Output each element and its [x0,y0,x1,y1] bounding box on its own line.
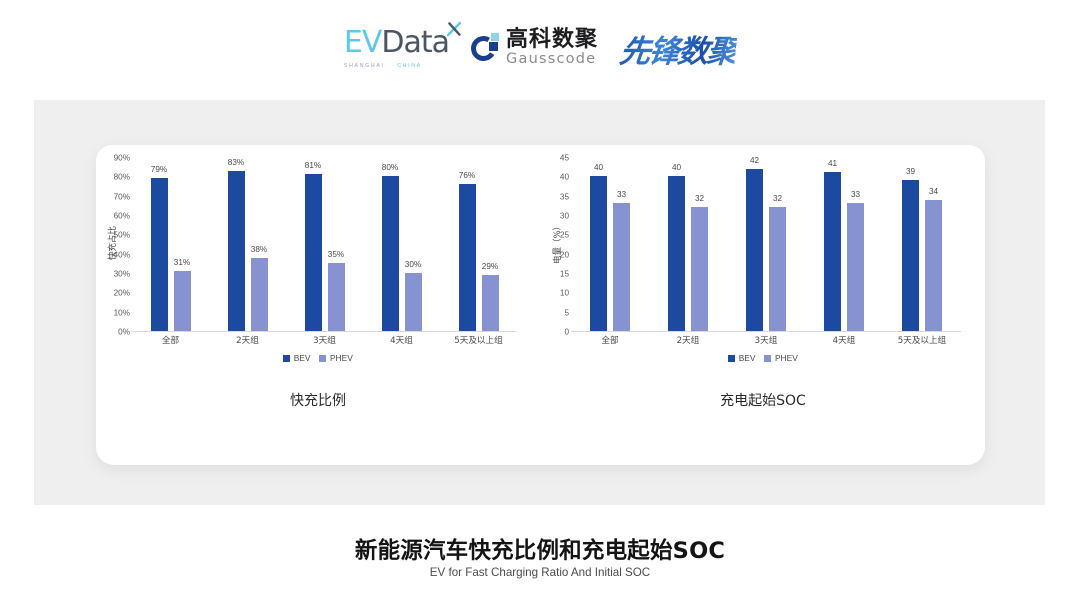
evdata-tagline-city: SHANGHAI [344,63,385,69]
bar-bev[interactable]: 81% [305,174,322,331]
bar-group: 3934 [883,158,961,331]
bars-area-right: 40334032423241333934 全部2天组3天组4天组5天及以上组 [571,158,961,332]
bar-bev[interactable]: 39 [902,180,919,331]
bar-value-label: 42 [750,156,759,165]
gausscode-cn-text: 高科数聚 [506,29,598,51]
legend-label-bev: BEV [294,353,311,363]
y-tick-label: 30% [114,270,130,279]
bar-bev[interactable]: 83% [228,171,245,331]
y-tick-label: 40% [114,250,130,259]
slide-canvas: EV Data SHANGHAI CHINA 高科数聚 G [0,0,1080,608]
y-tick-label: 40 [560,173,569,182]
y-tick-label: 20 [560,250,569,259]
x-axis-labels-right: 全部2天组3天组4天组5天及以上组 [571,334,961,346]
bar-phev[interactable]: 33 [847,203,864,331]
logo-gausscode: 高科数聚 Gausscode [471,29,598,67]
logo-xianfeng-shuju: 先锋数聚 [618,26,739,71]
x-tick-label: 4天组 [363,334,440,346]
bar-value-label: 83% [228,158,244,167]
bar-bev[interactable]: 40 [668,176,685,331]
y-tick-label: 20% [114,289,130,298]
logo-bar: EV Data SHANGHAI CHINA 高科数聚 G [0,22,1080,74]
bar-value-label: 40 [594,163,603,172]
y-tick-label: 0% [118,328,130,337]
logo-evdata: EV Data SHANGHAI CHINA [344,28,449,69]
legend-item-phev-left[interactable]: PHEV [319,353,352,363]
x-mark-icon [446,21,462,37]
y-tick-label: 50% [114,231,130,240]
bar-phev[interactable]: 34 [925,200,942,331]
y-tick-label: 80% [114,173,130,182]
bar-groups-right: 40334032423241333934 [571,158,961,331]
bar-pair: 76%29% [440,158,517,331]
bar-value-label: 80% [382,163,398,172]
bar-value-label: 32 [773,194,782,203]
chart-caption-right: 充电起始SOC [541,390,985,410]
y-tick-label: 25 [560,231,569,240]
bar-pair: 4133 [805,158,883,331]
bar-bev[interactable]: 41 [824,172,841,331]
y-tick-label: 45 [560,154,569,163]
legend-label-phev: PHEV [775,353,798,363]
bar-groups-left: 79%31%83%38%81%35%80%30%76%29% [132,158,517,331]
bar-value-label: 31% [174,258,190,267]
evdata-ev-text: EV [344,28,381,58]
bar-value-label: 34 [929,187,938,196]
bar-pair: 3934 [883,158,961,331]
bar-phev[interactable]: 35% [328,263,345,331]
x-tick-label: 2天组 [649,334,727,346]
x-tick-label: 5天及以上组 [440,334,517,346]
legend-left: BEV PHEV [96,353,540,363]
bar-value-label: 33 [617,190,626,199]
page-subtitle: EV for Fast Charging Ratio And Initial S… [0,566,1080,579]
bar-phev[interactable]: 38% [251,258,268,331]
bar-group: 4033 [571,158,649,331]
chart-initial-soc: 电量（%） 051015202530354045 403340324232413… [541,145,985,465]
bar-value-label: 32 [695,194,704,203]
x-tick-label: 2天组 [209,334,286,346]
plot-area-right: 电量（%） 051015202530354045 403340324232413… [541,158,985,380]
y-tick-label: 0 [564,328,569,337]
x-axis-labels-left: 全部2天组3天组4天组5天及以上组 [132,334,517,346]
bar-phev[interactable]: 30% [405,273,422,331]
bar-value-label: 33 [851,190,860,199]
g-dot-shape [491,33,499,41]
x-tick-label: 全部 [132,334,209,346]
bar-group: 4232 [727,158,805,331]
chart-card: 快充占比 0%10%20%30%40%50%60%70%80%90% 79%31… [96,145,985,465]
evdata-data-text: Data [381,28,449,58]
bar-value-label: 81% [305,161,321,170]
y-tick-label: 70% [114,192,130,201]
bar-group: 76%29% [440,158,517,331]
bar-group: 79%31% [132,158,209,331]
bar-group: 83%38% [209,158,286,331]
bar-bev[interactable]: 40 [590,176,607,331]
bar-pair: 80%30% [363,158,440,331]
y-tick-label: 90% [114,154,130,163]
y-tick-label: 30 [560,212,569,221]
bar-group: 4133 [805,158,883,331]
chart-fast-charging-ratio: 快充占比 0%10%20%30%40%50%60%70%80%90% 79%31… [96,145,540,465]
y-axis-ticks-right: 051015202530354045 [541,158,569,332]
bar-value-label: 40 [672,163,681,172]
legend-item-phev-right[interactable]: PHEV [764,353,797,363]
bar-bev[interactable]: 79% [151,178,168,331]
chart-caption-left: 快充比例 [96,390,540,410]
bar-phev[interactable]: 33 [613,203,630,331]
bars-area-left: 79%31%83%38%81%35%80%30%76%29% 全部2天组3天组4… [132,158,517,332]
y-tick-label: 60% [114,212,130,221]
bar-phev[interactable]: 31% [174,271,191,331]
x-tick-label: 4天组 [805,334,883,346]
page-title: 新能源汽车快充比例和充电起始SOC [0,533,1080,565]
gausscode-wordmark: 高科数聚 Gausscode [506,29,598,67]
charts-container: 快充占比 0%10%20%30%40%50%60%70%80%90% 79%31… [96,145,985,465]
legend-label-phev: PHEV [330,353,353,363]
y-tick-label: 10% [114,308,130,317]
bar-value-label: 38% [251,245,267,254]
bar-value-label: 29% [482,262,498,271]
bar-bev[interactable]: 42 [746,169,763,331]
legend-right: BEV PHEV [541,353,985,363]
x-tick-label: 3天组 [286,334,363,346]
x-tick-label: 3天组 [727,334,805,346]
bar-group: 80%30% [363,158,440,331]
y-axis-ticks-left: 0%10%20%30%40%50%60%70%80%90% [96,158,130,332]
legend-item-bev-right[interactable]: BEV [728,353,755,363]
legend-label-bev: BEV [739,353,756,363]
evdata-wordmark: EV Data [344,28,449,58]
gausscode-en-text: Gausscode [506,52,598,67]
legend-swatch-phev-icon [319,355,326,362]
bar-bev[interactable]: 80% [382,176,399,331]
g-square-shape [489,42,498,51]
legend-swatch-phev-icon [764,355,771,362]
bar-pair: 4033 [571,158,649,331]
evdata-tagline-country: CHINA [397,63,422,69]
plot-area-left: 快充占比 0%10%20%30%40%50%60%70%80%90% 79%31… [96,158,540,380]
bar-group: 81%35% [286,158,363,331]
bar-value-label: 41 [828,159,837,168]
bar-value-label: 35% [328,250,344,259]
y-tick-label: 5 [564,308,569,317]
evdata-tagline: SHANGHAI CHINA [344,63,422,69]
bar-pair: 81%35% [286,158,363,331]
bar-value-label: 79% [151,165,167,174]
legend-swatch-bev-icon [728,355,735,362]
bar-phev[interactable]: 29% [482,275,499,331]
x-tick-label: 5天及以上组 [883,334,961,346]
x-tick-label: 全部 [571,334,649,346]
bar-group: 4032 [649,158,727,331]
y-tick-label: 10 [560,289,569,298]
bar-pair: 79%31% [132,158,209,331]
legend-swatch-bev-icon [283,355,290,362]
bar-pair: 4232 [727,158,805,331]
bar-phev[interactable]: 32 [769,207,786,331]
y-tick-label: 35 [560,192,569,201]
bar-value-label: 76% [459,171,475,180]
bar-pair: 4032 [649,158,727,331]
bar-value-label: 39 [906,167,915,176]
y-tick-label: 15 [560,270,569,279]
bar-phev[interactable]: 32 [691,207,708,331]
bar-value-label: 30% [405,260,421,269]
bar-pair: 83%38% [209,158,286,331]
g-ring-icon [471,34,499,62]
legend-item-bev-left[interactable]: BEV [283,353,310,363]
bar-bev[interactable]: 76% [459,184,476,331]
